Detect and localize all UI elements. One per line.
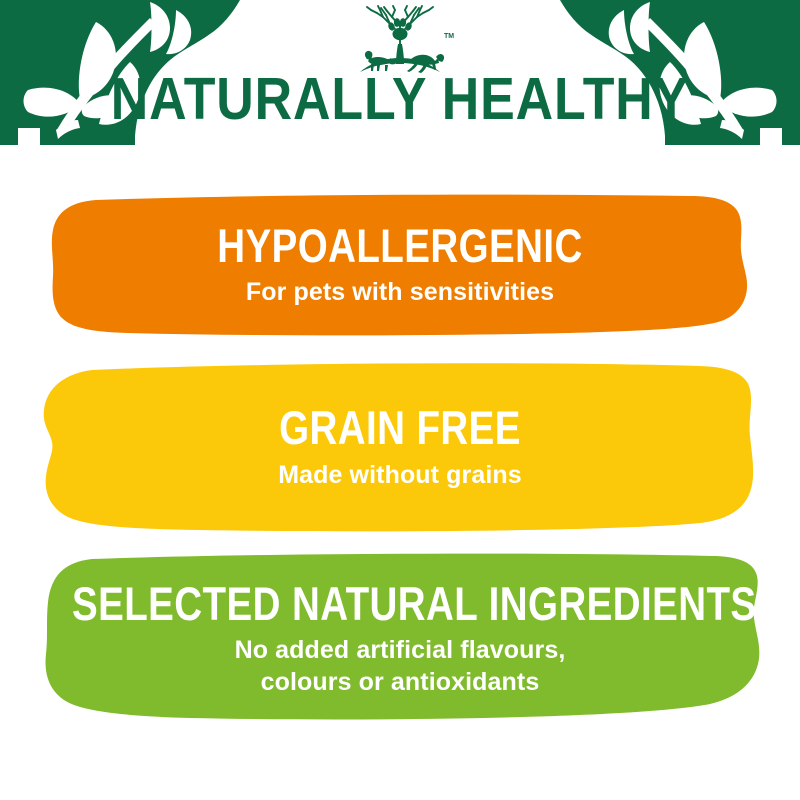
banner-subtitle: No added artificial flavours, colours or… — [0, 634, 800, 698]
banner-subtitle-line: No added artificial flavours, — [0, 634, 800, 666]
feature-banner-grain-free: GRAIN FREE Made without grains — [0, 360, 800, 535]
banner-subtitle: Made without grains — [0, 459, 800, 492]
banner-subtitle-line: colours or antioxidants — [0, 666, 800, 698]
page-title: NATURALLY HEALTHY — [48, 68, 752, 130]
banner-text-group: SELECTED NATURAL INGREDIENTS No added ar… — [0, 578, 800, 698]
banner-heading: SELECTED NATURAL INGREDIENTS — [72, 578, 728, 630]
promo-graphic: TM NATURALLY HEALTHY HYPOALLERGENIC For … — [0, 0, 800, 800]
banner-heading: GRAIN FREE — [72, 402, 728, 454]
banner-subtitle: For pets with sensitivities — [0, 276, 800, 309]
header: TM NATURALLY HEALTHY — [0, 0, 800, 150]
banner-text-group: GRAIN FREE Made without grains — [0, 402, 800, 492]
feature-banner-selected-natural-ingredients: SELECTED NATURAL INGREDIENTS No added ar… — [0, 552, 800, 724]
feature-banner-hypoallergenic: HYPOALLERGENIC For pets with sensitiviti… — [0, 192, 800, 340]
trademark-mark: TM — [444, 33, 454, 40]
banner-heading: HYPOALLERGENIC — [72, 220, 728, 272]
banner-text-group: HYPOALLERGENIC For pets with sensitiviti… — [0, 220, 800, 309]
